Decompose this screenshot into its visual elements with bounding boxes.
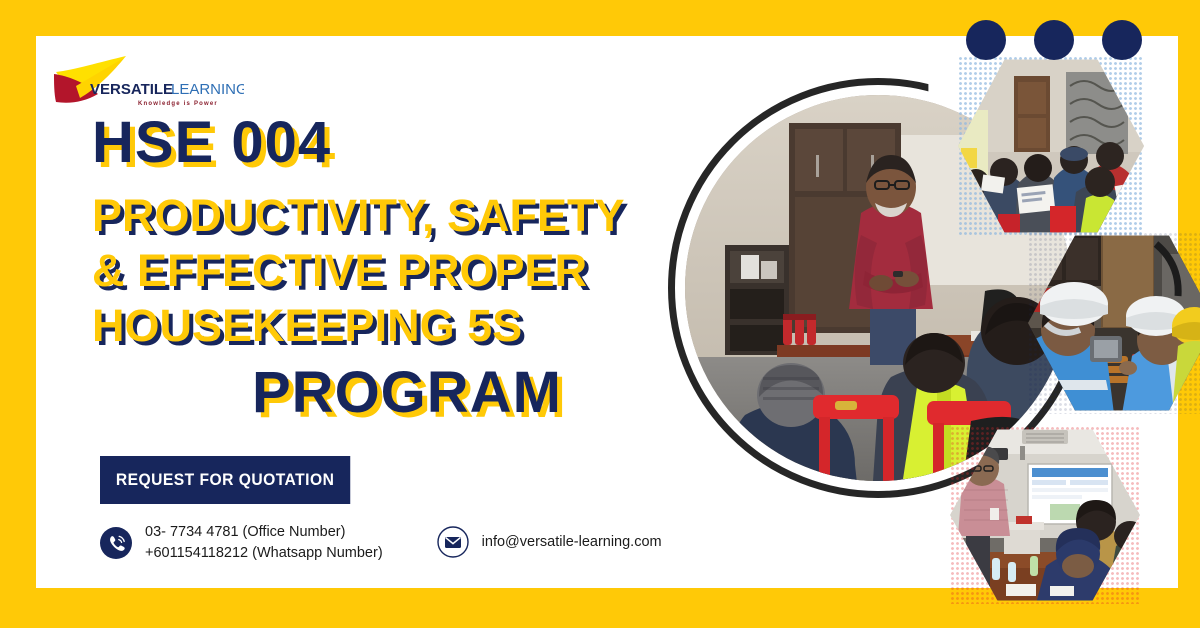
- photo-cluster: [640, 0, 1200, 628]
- workshop-inspection-photo: [1028, 232, 1200, 414]
- headline-block: HSE 004 PRODUCTIVITY, SAFETY & EFFECTIVE…: [92, 112, 692, 425]
- participants-paperwork-photo: [958, 56, 1144, 236]
- program-word: PROGRAM: [92, 361, 692, 425]
- headline-line-3: HOUSEKEEPING 5S: [92, 298, 692, 353]
- whatsapp-number: +601154118212 (Whatsapp Number): [145, 543, 383, 564]
- phone-contact[interactable]: 03- 7734 4781 (Office Number) +601154118…: [100, 522, 383, 564]
- request-quotation-button[interactable]: REQUEST FOR QUOTATION NOW: [100, 456, 350, 504]
- dot-1-icon: [966, 20, 1006, 60]
- phone-numbers: 03- 7734 4781 (Office Number) +601154118…: [145, 522, 383, 564]
- versatile-learning-logo: VERSATILE LEARNING Knowledge is Power: [54, 56, 244, 110]
- course-code: HSE 004: [92, 112, 692, 174]
- envelope-icon: [437, 526, 469, 558]
- decorative-dots: [966, 20, 1142, 60]
- headline-line-1: PRODUCTIVITY, SAFETY: [92, 188, 692, 243]
- contact-row: 03- 7734 4781 (Office Number) +601154118…: [100, 522, 662, 564]
- poster-canvas: VERSATILE LEARNING Knowledge is Power HS…: [0, 0, 1200, 628]
- email-address: info@versatile-learning.com: [482, 532, 662, 553]
- headline-line-2: & EFFECTIVE PROPER: [92, 243, 692, 298]
- dot-3-icon: [1102, 20, 1142, 60]
- svg-text:Knowledge is Power: Knowledge is Power: [138, 101, 218, 107]
- dot-2-icon: [1034, 20, 1074, 60]
- phone-icon: [100, 527, 132, 559]
- presentation-room-photo: [950, 426, 1140, 604]
- headline-lines: PRODUCTIVITY, SAFETY & EFFECTIVE PROPER …: [92, 188, 692, 353]
- email-contact[interactable]: info@versatile-learning.com: [437, 526, 662, 558]
- office-number: 03- 7734 4781 (Office Number): [145, 522, 383, 543]
- svg-text:LEARNING: LEARNING: [171, 81, 244, 98]
- svg-text:VERSATILE: VERSATILE: [90, 81, 173, 98]
